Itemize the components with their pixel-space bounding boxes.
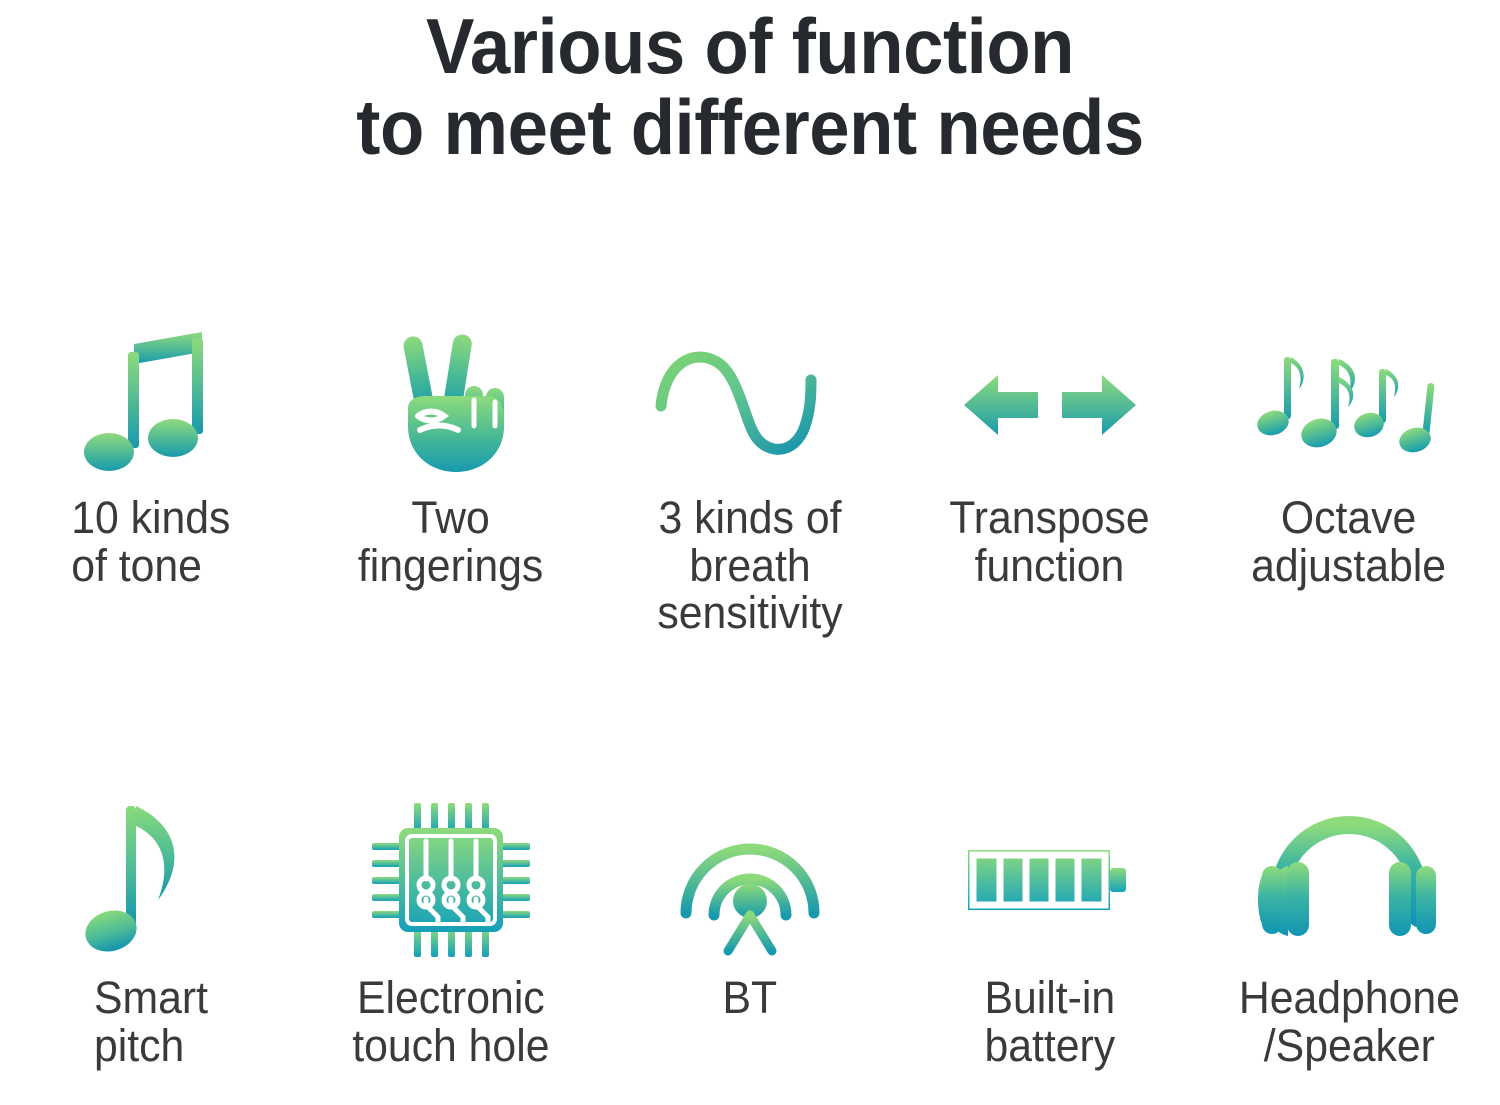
headphones-icon [1254, 800, 1444, 960]
feature-label: BT [723, 974, 778, 1022]
feature-label: Electronic touch hole [352, 974, 549, 1069]
feature-item-octave: Octave adjustable [1204, 330, 1494, 589]
feature-label: 10 kinds of tone [71, 494, 230, 589]
feature-item-transpose: Transpose function [905, 330, 1195, 589]
feature-label: Built-in battery [984, 974, 1115, 1069]
feature-row-bottom: Smart pitch [0, 800, 1500, 1069]
feature-label: Two fingerings [358, 494, 543, 589]
left-right-arrows-icon [960, 330, 1140, 480]
title-line-2: to meet different needs [53, 87, 1448, 168]
feature-item-smart-pitch: Smart pitch [6, 800, 296, 1069]
eighth-note-icon [86, 800, 216, 960]
sine-wave-icon [655, 330, 845, 480]
cpu-chip-icon [366, 800, 536, 960]
feature-label: 3 kinds of breath sensitivity [612, 494, 888, 637]
feature-label: Transpose function [949, 494, 1149, 589]
double-music-note-icon [76, 330, 226, 480]
feature-item-bt: BT [605, 800, 895, 1022]
feature-item-touch-hole: Electronic touch hole [306, 800, 596, 1069]
battery-icon [960, 800, 1140, 960]
feature-item-battery: Built-in battery [905, 800, 1195, 1069]
broadcast-tower-icon [670, 800, 830, 960]
feature-row-top: 10 kinds of tone [0, 330, 1500, 637]
four-music-notes-icon [1249, 330, 1449, 480]
victory-hand-icon [376, 330, 526, 480]
feature-label: Octave adjustable [1252, 494, 1447, 589]
feature-label: Headphone /Speaker [1238, 974, 1459, 1069]
title-line-1: Various of function [53, 6, 1448, 87]
feature-item-fingerings: Two fingerings [306, 330, 596, 589]
feature-label: Smart pitch [94, 974, 208, 1069]
feature-item-tone: 10 kinds of tone [6, 330, 296, 589]
feature-item-headphone: Headphone /Speaker [1204, 800, 1494, 1069]
page-title: Various of function to meet different ne… [0, 0, 1500, 168]
feature-item-breath: 3 kinds of breath sensitivity [605, 330, 895, 637]
